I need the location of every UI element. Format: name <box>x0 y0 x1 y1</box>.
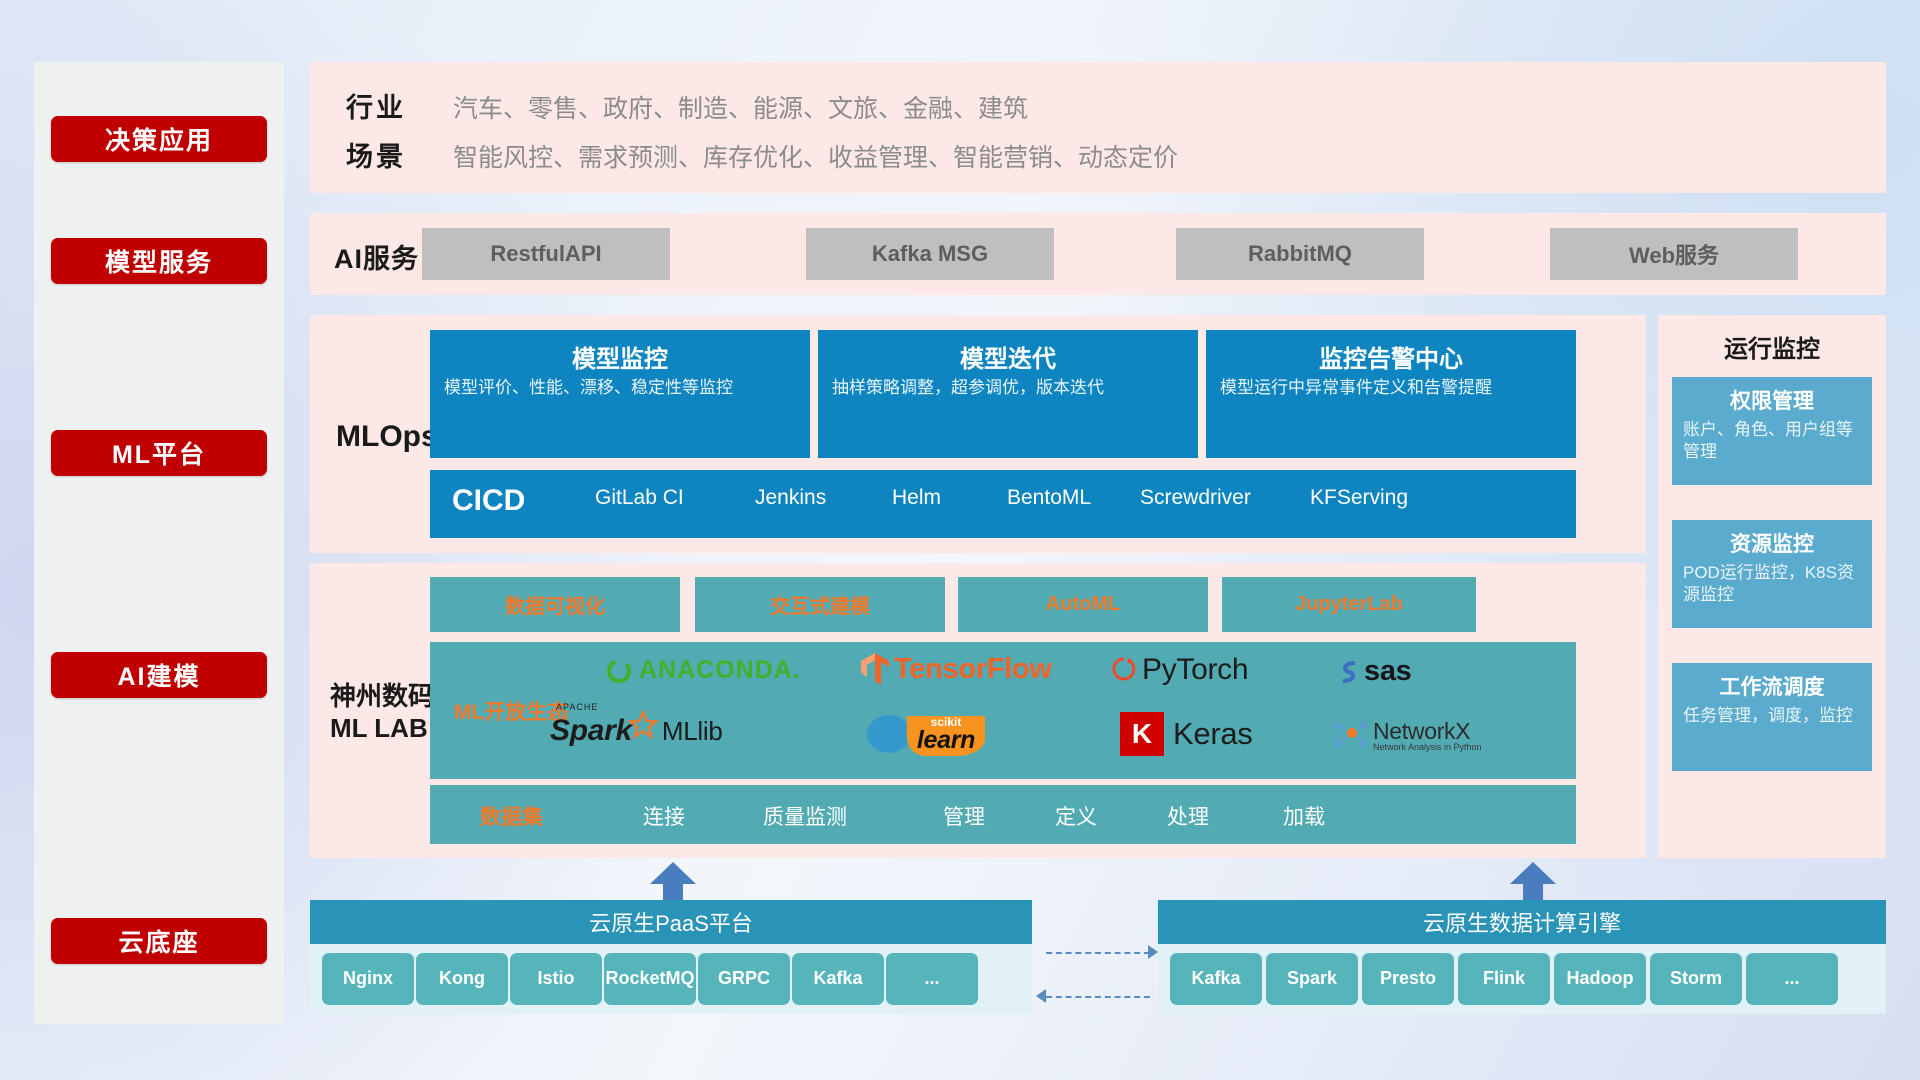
service-box-rabbitmq[interactable]: RabbitMQ <box>1176 228 1424 280</box>
cicd-item-bentoml[interactable]: BentoML <box>1007 486 1127 511</box>
tool-box-interactive-modeling[interactable]: 交互式建模 <box>695 577 945 632</box>
chip-presto[interactable]: Presto <box>1362 953 1454 1005</box>
mlops-card-alert-center[interactable]: 监控告警中心 模型运行中异常事件定义和告警提醒 <box>1206 330 1576 458</box>
paas-header: 云原生PaaS平台 <box>310 900 1032 944</box>
cicd-item-jenkins[interactable]: Jenkins <box>755 486 875 511</box>
service-box-web-service[interactable]: Web服务 <box>1550 228 1798 280</box>
dashed-arrow-right <box>1148 945 1158 959</box>
tool-label: AutoML <box>1046 593 1120 616</box>
ml-lab-label: 神州数码 ML LAB <box>330 681 434 744</box>
card-title: 权限管理 <box>1672 377 1872 419</box>
tensorflow-mark <box>860 652 890 686</box>
chip-spark[interactable]: Spark <box>1266 953 1358 1005</box>
ai-service-section: AI服务 RestfulAPI Kafka MSG RabbitMQ Web服务 <box>310 213 1886 295</box>
chip-nginx[interactable]: Nginx <box>322 953 414 1005</box>
service-box-restfulapi[interactable]: RestfulAPI <box>422 228 670 280</box>
ml-lab-label-en: ML LAB <box>330 713 434 745</box>
card-desc: 任务管理，调度，监控 <box>1672 705 1872 736</box>
chip-kong[interactable]: Kong <box>416 953 508 1005</box>
ml-lab-label-cn: 神州数码 <box>330 681 434 713</box>
cicd-item-kfserving[interactable]: KFServing <box>1310 486 1430 511</box>
tool-label: JupyterLab <box>1295 593 1403 616</box>
scenario-key: 场景 <box>346 135 406 174</box>
spark-mllib-logo: APACHE Spark MLlib <box>550 714 723 748</box>
networkx-wordmark: NetworkX <box>1373 718 1482 745</box>
dataset-item-connect[interactable]: 连接 <box>643 801 685 831</box>
service-box-label: Kafka MSG <box>872 241 988 267</box>
tool-box-data-visualization[interactable]: 数据可视化 <box>430 577 680 632</box>
monitor-card-permission[interactable]: 权限管理 账户、角色、用户组等管理 <box>1672 377 1872 485</box>
data-engine-header: 云原生数据计算引擎 <box>1158 900 1886 944</box>
tensorflow-wordmark: TensorFlow <box>894 653 1052 686</box>
runtime-monitor-title: 运行监控 <box>1658 329 1886 364</box>
card-desc: 账户、角色、用户组等管理 <box>1672 419 1872 472</box>
rail-label: 模型服务 <box>105 243 213 279</box>
industry-value: 汽车、零售、政府、制造、能源、文旅、金融、建筑 <box>453 89 1028 125</box>
paas-chip-tray: Nginx Kong Istio RocketMQ GRPC Kafka ... <box>310 944 1032 1014</box>
rail-item-ai-modeling[interactable]: AI建模 <box>51 652 267 698</box>
spark-wordmark: Spark <box>550 714 632 747</box>
rail-item-ml-platform[interactable]: ML平台 <box>51 430 267 476</box>
sas-logo: sas <box>1335 655 1412 688</box>
card-title: 资源监控 <box>1672 520 1872 562</box>
rail-label: 决策应用 <box>105 121 213 157</box>
dashed-connector-right <box>1046 952 1150 954</box>
rail-label: AI建模 <box>117 657 200 693</box>
rail-label: 云底座 <box>118 923 199 959</box>
pytorch-logo: PyTorch <box>1110 653 1248 687</box>
data-engine-chip-tray: Kafka Spark Presto Flink Hadoop Storm ..… <box>1158 944 1886 1014</box>
mlops-label: MLOps <box>336 420 438 454</box>
anaconda-logo: ANACONDA. <box>605 656 801 685</box>
anaconda-mark <box>605 657 633 685</box>
ai-modeling-section: 神州数码 ML LAB 数据可视化 交互式建模 AutoML JupyterLa… <box>310 563 1646 858</box>
chip-hadoop[interactable]: Hadoop <box>1554 953 1646 1005</box>
rail-item-decision-apps[interactable]: 决策应用 <box>51 116 267 162</box>
dataset-item-quality-monitor[interactable]: 质量监测 <box>763 801 847 831</box>
architecture-diagram: 决策应用 模型服务 ML平台 AI建模 云底座 行业 汽车、零售、政府、制造、能… <box>0 0 1920 1080</box>
card-title: 工作流调度 <box>1672 663 1872 705</box>
card-desc: POD运行监控，K8S资源监控 <box>1672 562 1872 615</box>
tool-box-automl[interactable]: AutoML <box>958 577 1208 632</box>
service-box-kafka-msg[interactable]: Kafka MSG <box>806 228 1054 280</box>
decision-apps-section: 行业 汽车、零售、政府、制造、能源、文旅、金融、建筑 场景 智能风控、需求预测、… <box>310 62 1886 193</box>
service-box-label: RestfulAPI <box>490 241 601 267</box>
keras-mark: K <box>1120 712 1164 756</box>
rail-item-cloud-base[interactable]: 云底座 <box>51 918 267 964</box>
dataset-item-define[interactable]: 定义 <box>1055 801 1097 831</box>
anaconda-wordmark: ANACONDA. <box>639 656 801 685</box>
tensorflow-logo: TensorFlow <box>860 652 1052 686</box>
dashed-connector-left <box>1046 996 1150 998</box>
mlops-card-model-iteration[interactable]: 模型迭代 抽样策略调整，超参调优，版本迭代 <box>818 330 1198 458</box>
scikit-learn-logo: scikit learn <box>865 710 989 756</box>
sas-wordmark: sas <box>1364 655 1412 688</box>
spark-apache-text: APACHE <box>556 702 598 712</box>
networkx-logo: NetworkX Network Analysis in Python <box>1330 716 1482 754</box>
card-desc: 抽样策略调整，超参调优，版本迭代 <box>818 377 1198 399</box>
dataset-title: 数据集 <box>480 801 543 831</box>
rail-item-model-service[interactable]: 模型服务 <box>51 238 267 284</box>
tool-label: 交互式建模 <box>770 590 870 619</box>
dataset-item-load[interactable]: 加载 <box>1283 801 1325 831</box>
spark-star-mark <box>628 710 658 740</box>
chip-kafka[interactable]: Kafka <box>792 953 884 1005</box>
layer-rail: 决策应用 模型服务 ML平台 AI建模 云底座 <box>34 62 284 1024</box>
learn-wordmark: learn <box>903 726 989 755</box>
service-box-label: RabbitMQ <box>1248 241 1352 267</box>
cloud-group-data-engine: 云原生数据计算引擎 Kafka Spark Presto Flink Hadoo… <box>1158 900 1886 1014</box>
chip-storm[interactable]: Storm <box>1650 953 1742 1005</box>
chip-kafka[interactable]: Kafka <box>1170 953 1262 1005</box>
runtime-monitor-column: 运行监控 权限管理 账户、角色、用户组等管理 资源监控 POD运行监控，K8S资… <box>1658 315 1886 858</box>
dashed-arrow-left <box>1036 989 1046 1003</box>
pytorch-wordmark: PyTorch <box>1142 653 1248 687</box>
chip-istio[interactable]: Istio <box>510 953 602 1005</box>
industry-key: 行业 <box>346 86 406 125</box>
card-desc: 模型运行中异常事件定义和告警提醒 <box>1206 377 1576 399</box>
chip-grpc[interactable]: GRPC <box>698 953 790 1005</box>
chip-more[interactable]: ... <box>1746 953 1838 1005</box>
networkx-tagline: Network Analysis in Python <box>1373 742 1482 752</box>
cicd-item-helm[interactable]: Helm <box>892 486 1012 511</box>
tool-label: 数据可视化 <box>505 590 605 619</box>
card-title: 模型迭代 <box>818 330 1198 377</box>
sas-mark <box>1335 658 1363 686</box>
chip-flink[interactable]: Flink <box>1458 953 1550 1005</box>
cicd-item-gitlab-ci[interactable]: GitLab CI <box>595 486 715 511</box>
service-box-label: Web服务 <box>1629 238 1719 270</box>
cicd-title: CICD <box>452 484 525 518</box>
dataset-band: 数据集 连接 质量监测 管理 定义 处理 加载 <box>430 785 1576 844</box>
scenario-value: 智能风控、需求预测、库存优化、收益管理、智能营销、动态定价 <box>453 138 1178 174</box>
keras-logo: K Keras <box>1120 712 1252 756</box>
chip-rocketmq[interactable]: RocketMQ <box>604 953 696 1005</box>
cicd-item-screwdriver[interactable]: Screwdriver <box>1140 486 1260 511</box>
cloud-group-paas: 云原生PaaS平台 Nginx Kong Istio RocketMQ GRPC… <box>310 900 1032 1014</box>
dataset-item-manage[interactable]: 管理 <box>943 801 985 831</box>
card-title: 监控告警中心 <box>1206 330 1576 377</box>
keras-wordmark: Keras <box>1173 716 1252 752</box>
mlops-section: MLOps 模型监控 模型评价、性能、漂移、稳定性等监控 模型迭代 抽样策略调整… <box>310 315 1646 553</box>
ai-service-label: AI服务 <box>334 237 419 276</box>
monitor-card-workflow[interactable]: 工作流调度 任务管理，调度，监控 <box>1672 663 1872 771</box>
chip-more[interactable]: ... <box>886 953 978 1005</box>
tool-box-jupyterlab[interactable]: JupyterLab <box>1222 577 1476 632</box>
monitor-card-resource[interactable]: 资源监控 POD运行监控，K8S资源监控 <box>1672 520 1872 628</box>
card-title: 模型监控 <box>430 330 810 377</box>
card-desc: 模型评价、性能、漂移、稳定性等监控 <box>430 377 810 399</box>
dataset-item-process[interactable]: 处理 <box>1167 801 1209 831</box>
cicd-bar: CICD GitLab CI Jenkins Helm BentoML Scre… <box>430 470 1576 538</box>
networkx-mark <box>1330 716 1370 754</box>
mlops-card-model-monitoring[interactable]: 模型监控 模型评价、性能、漂移、稳定性等监控 <box>430 330 810 458</box>
ml-ecosystem-band: ML开放生态 ANACONDA. TensorFlow <box>430 642 1576 779</box>
mllib-wordmark: MLlib <box>662 716 723 747</box>
rail-label: ML平台 <box>112 435 206 471</box>
pytorch-mark <box>1110 655 1138 685</box>
